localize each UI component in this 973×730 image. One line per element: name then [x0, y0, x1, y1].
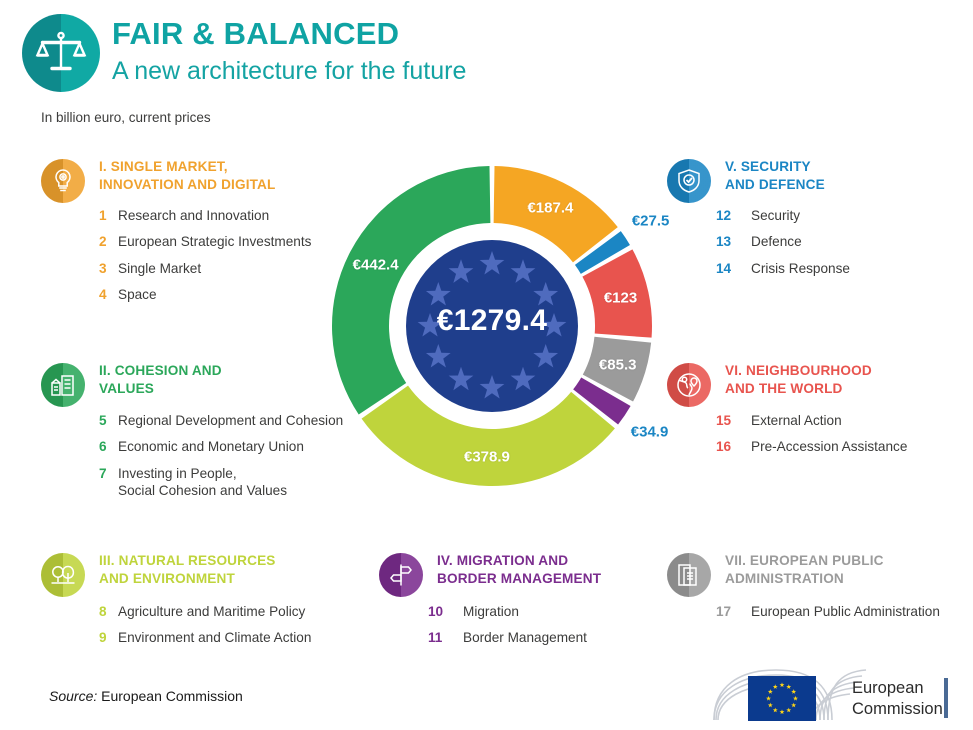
legend-items: 1Research and Innovation2European Strate… [99, 207, 311, 313]
scales-of-justice-icon [22, 14, 100, 92]
ec-logo-divider [944, 678, 948, 718]
legend-item-number: 3 [99, 260, 107, 277]
legend-item-number: 14 [716, 260, 731, 277]
legend-item: 16Pre-Accession Assistance [725, 438, 907, 455]
legend-item-label: Environment and Climate Action [118, 630, 311, 645]
ec-logo-line2: Commission [852, 699, 943, 720]
legend-item: 2European Strategic Investments [99, 233, 311, 250]
legend-item-number: 2 [99, 233, 107, 250]
legend-item-number: 5 [99, 412, 107, 429]
legend-item-number: 11 [428, 629, 442, 646]
legend-item: 14Crisis Response [725, 260, 850, 277]
legend-heading: V. SECURITY AND DEFENCE [725, 158, 825, 194]
legend-item: 10Migration [437, 603, 587, 620]
signpost-icon [379, 553, 423, 597]
page-title: FAIR & BALANCED [112, 16, 466, 52]
legend-items: 5Regional Development and Cohesion6Econo… [99, 412, 343, 509]
legend-item-number: 1 [99, 207, 107, 224]
globe-pin-icon [667, 363, 711, 407]
legend-heading: III. NATURAL RESOURCES AND ENVIRONMENT [99, 552, 276, 588]
lightbulb-gear-icon [41, 159, 85, 203]
legend-items: 15External Action16Pre-Accession Assista… [725, 412, 907, 465]
legend-item-label: Investing in People, Social Cohesion and… [118, 466, 287, 498]
legend-item-number: 17 [716, 603, 731, 620]
legend-item-number: 15 [716, 412, 731, 429]
legend-heading: VI. NEIGHBOURHOOD AND THE WORLD [725, 362, 872, 398]
legend-item-label: Single Market [118, 261, 201, 276]
buildings-growth-icon [41, 363, 85, 407]
legend-item-number: 16 [716, 438, 731, 455]
legend-item-label: Defence [751, 234, 802, 249]
units-note: In billion euro, current prices [41, 110, 211, 125]
donut-slice-label: €123 [604, 290, 637, 307]
page-subtitle: A new architecture for the future [112, 55, 466, 88]
donut-slice-label: €27.5 [632, 213, 670, 230]
legend-item: 13Defence [725, 233, 850, 250]
legend-item-label: Crisis Response [751, 261, 850, 276]
legend-item-number: 7 [99, 465, 107, 482]
legend-item-number: 13 [716, 233, 731, 250]
source-label: Source: [49, 688, 97, 704]
ec-logo-text: European Commission [852, 678, 943, 719]
legend-item-number: 4 [99, 286, 107, 303]
legend-item-number: 12 [716, 207, 731, 224]
legend-item-label: Agriculture and Maritime Policy [118, 604, 305, 619]
shield-check-icon [667, 159, 711, 203]
donut-slice-label: €85.3 [599, 356, 637, 373]
legend-item-number: 9 [99, 629, 107, 646]
source-line: Source: European Commission [49, 688, 243, 704]
legend-item-label: Pre-Accession Assistance [751, 439, 907, 454]
legend-item-label: European Strategic Investments [118, 234, 311, 249]
legend-item: 7Investing in People, Social Cohesion an… [99, 465, 343, 500]
legend-heading: VII. EUROPEAN PUBLIC ADMINISTRATION [725, 552, 884, 588]
legend-item: 9Environment and Climate Action [99, 629, 311, 646]
donut-slice-label: €34.9 [631, 424, 669, 441]
legend-item-label: External Action [751, 413, 842, 428]
donut-slice-label: €378.9 [464, 449, 510, 466]
legend-item-label: Border Management [463, 630, 587, 645]
eu-flag-icon [748, 676, 816, 721]
legend-item: 12Security [725, 207, 850, 224]
documents-icon [667, 553, 711, 597]
legend-heading: I. SINGLE MARKET, INNOVATION AND DIGITAL [99, 158, 275, 194]
legend-items: 17European Public Administration [725, 603, 940, 629]
legend-item-label: Regional Development and Cohesion [118, 413, 343, 428]
legend-heading: IV. MIGRATION AND BORDER MANAGEMENT [437, 552, 601, 588]
legend-item: 5Regional Development and Cohesion [99, 412, 343, 429]
trees-nature-icon [41, 553, 85, 597]
source-value: European Commission [101, 688, 243, 704]
legend-item-number: 6 [99, 438, 107, 455]
donut-slice-label: €442.4 [353, 256, 399, 273]
legend-item: 4Space [99, 286, 311, 303]
legend-item: 8Agriculture and Maritime Policy [99, 603, 311, 620]
legend-item-label: European Public Administration [751, 604, 940, 619]
center-total-value: €1279.4 [322, 304, 662, 338]
legend-item-number: 8 [99, 603, 107, 620]
legend-heading: II. COHESION AND VALUES [99, 362, 222, 398]
legend-item: 6Economic and Monetary Union [99, 438, 343, 455]
legend-item-label: Research and Innovation [118, 208, 269, 223]
legend-item: 17European Public Administration [725, 603, 940, 620]
title-block: FAIR & BALANCED A new architecture for t… [112, 16, 466, 87]
legend-items: 8Agriculture and Maritime Policy9Environ… [99, 603, 311, 656]
ec-logo-line1: European [852, 678, 943, 699]
legend-item: 3Single Market [99, 260, 311, 277]
legend-items: 12Security13Defence14Crisis Response [725, 207, 850, 286]
legend-item: 1Research and Innovation [99, 207, 311, 224]
legend-item: 11Border Management [437, 629, 587, 646]
legend-item: 15External Action [725, 412, 907, 429]
legend-item-number: 10 [428, 603, 443, 620]
header: FAIR & BALANCED A new architecture for t… [16, 8, 576, 98]
donut-slice-label: €187.4 [527, 200, 573, 217]
legend-item-label: Economic and Monetary Union [118, 439, 304, 454]
infographic-page: FAIR & BALANCED A new architecture for t… [0, 0, 973, 730]
donut-chart: €1279.4 €187.4€27.5€123€85.3€34.9€378.9€… [322, 152, 662, 500]
legend-item-label: Security [751, 208, 800, 223]
legend-item-label: Migration [463, 604, 519, 619]
legend-item-label: Space [118, 287, 157, 302]
legend-items: 10Migration11Border Management [437, 603, 587, 656]
european-commission-logo: European Commission [706, 668, 956, 726]
